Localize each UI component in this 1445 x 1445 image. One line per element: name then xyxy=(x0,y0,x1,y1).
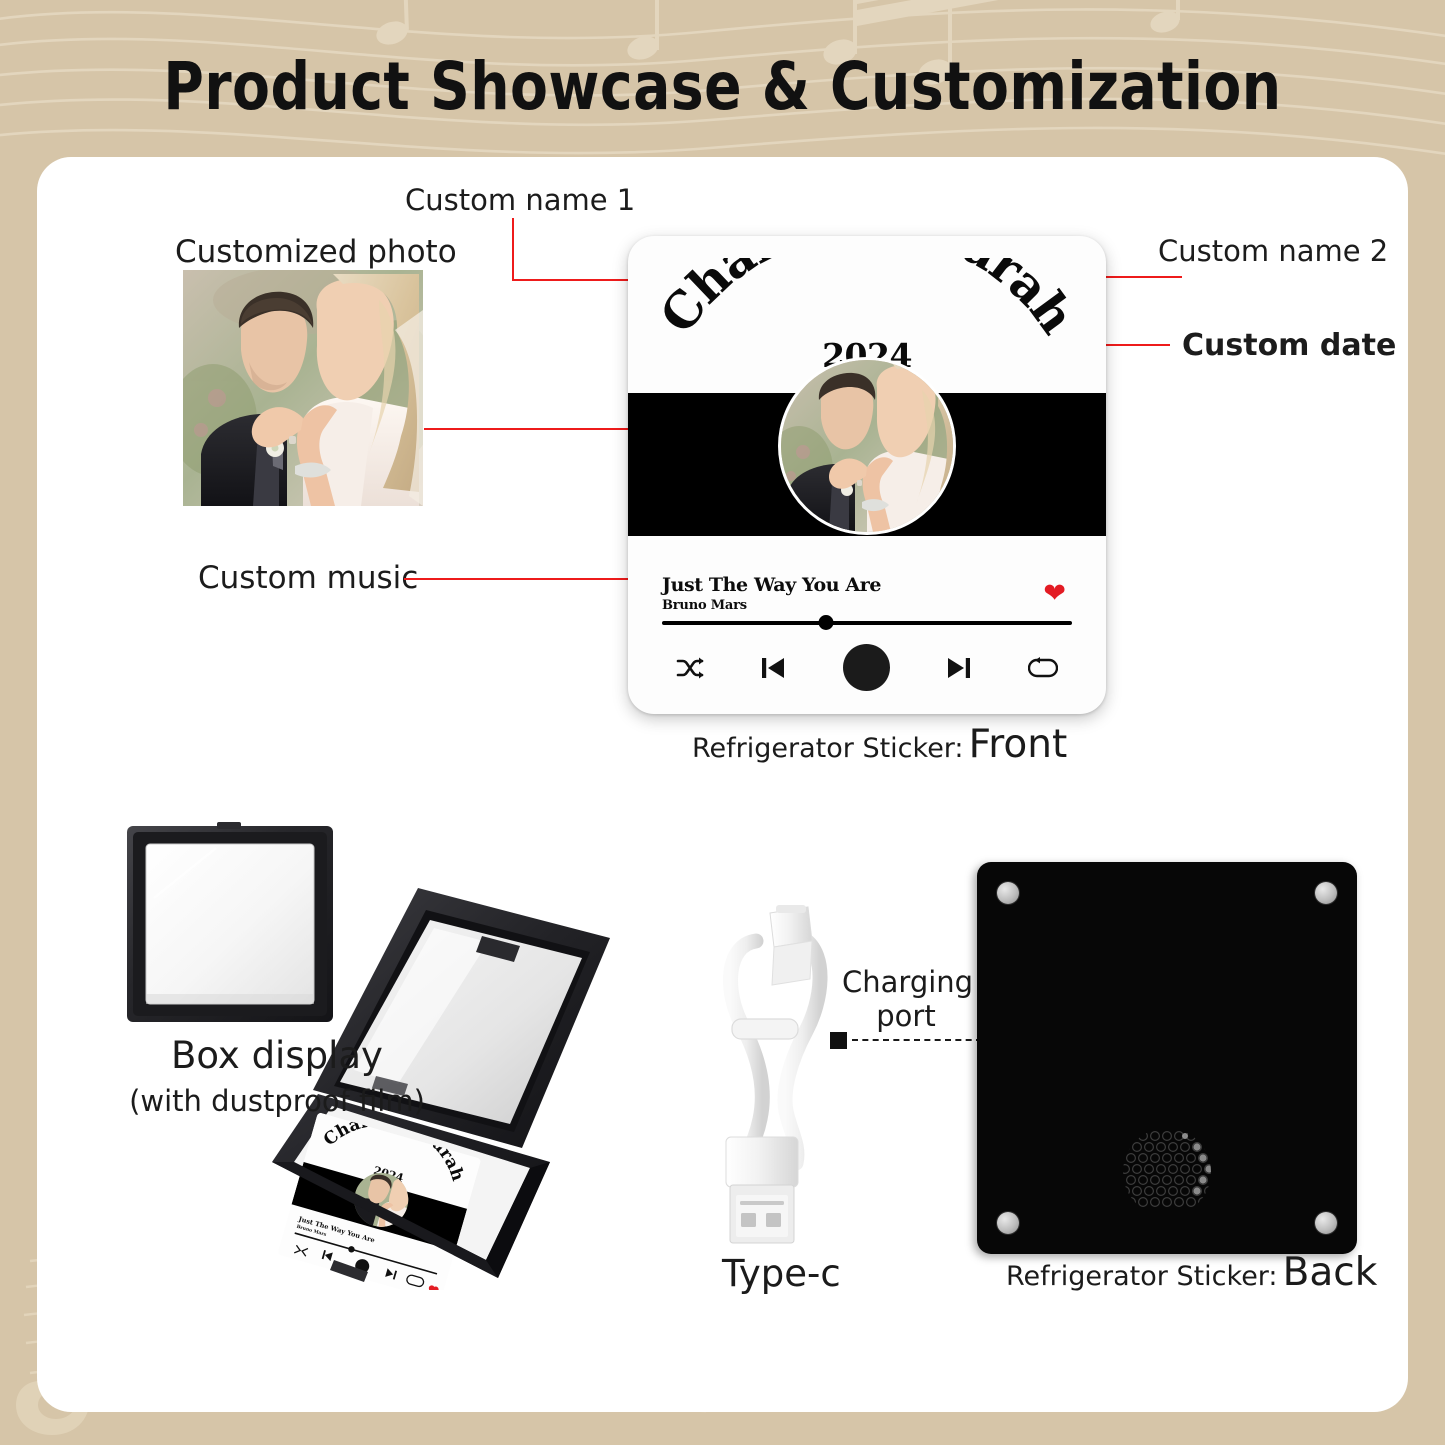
refrigerator-sticker-front[interactable]: Charles & Sarah 2024 xyxy=(628,236,1106,714)
showcase-stage: Product Showcase & Customization Custom … xyxy=(0,0,1445,1445)
screw-bottom-right xyxy=(1315,1212,1337,1234)
screw-bottom-left xyxy=(997,1212,1019,1234)
label-custom-date: Custom date xyxy=(1182,328,1396,363)
player-controls xyxy=(662,644,1072,691)
caption-back: Refrigerator Sticker: Back xyxy=(1006,1250,1377,1295)
shuffle-icon[interactable] xyxy=(676,657,704,679)
label-box-display-sub: (with dustproof film) xyxy=(106,1084,448,1118)
label-custom-name-1: Custom name 1 xyxy=(405,183,635,217)
previous-icon[interactable] xyxy=(760,655,786,681)
label-charging-port: Charging port xyxy=(842,966,970,1033)
speaker-grille-icon xyxy=(1119,1124,1215,1220)
screw-top-left xyxy=(997,882,1019,904)
label-custom-name-2: Custom name 2 xyxy=(1158,234,1388,268)
leader-line-name1-vertical xyxy=(512,218,514,280)
screw-top-right xyxy=(1315,882,1337,904)
progress-bar[interactable] xyxy=(662,621,1072,625)
customized-photo-sample xyxy=(183,270,423,506)
caption-back-value: Back xyxy=(1283,1250,1378,1295)
repeat-icon[interactable] xyxy=(1028,657,1058,679)
refrigerator-sticker-back[interactable] xyxy=(977,862,1357,1254)
progress-knob[interactable] xyxy=(819,615,834,630)
label-custom-music: Custom music xyxy=(198,560,418,596)
caption-back-prefix: Refrigerator Sticker: xyxy=(1006,1261,1278,1292)
next-icon[interactable] xyxy=(946,655,972,681)
charging-port-marker xyxy=(830,1032,847,1049)
heart-icon[interactable]: ❤ xyxy=(1043,580,1066,607)
caption-front: Refrigerator Sticker: Front xyxy=(692,722,1067,767)
music-player: Just The Way You Are Bruno Mars ❤ xyxy=(662,576,1072,691)
sticker-circular-photo xyxy=(781,360,953,532)
charging-port-leader-line xyxy=(852,1039,982,1041)
svg-text:Charles & Sarah: Charles & Sarah xyxy=(648,258,1085,344)
label-type-c: Type-c xyxy=(722,1252,841,1295)
charging-port-line1: Charging xyxy=(842,965,973,999)
charging-port-line2: port xyxy=(876,999,935,1033)
type-c-cable xyxy=(716,905,856,1245)
song-artist: Bruno Mars xyxy=(662,598,1072,613)
caption-front-prefix: Refrigerator Sticker: xyxy=(692,733,964,764)
play-button[interactable] xyxy=(843,644,890,691)
caption-front-value: Front xyxy=(969,722,1068,767)
label-customized-photo: Customized photo xyxy=(175,234,457,270)
page-title: Product Showcase & Customization xyxy=(51,48,1395,125)
song-title: Just The Way You Are xyxy=(662,576,1072,596)
label-box-display: Box display xyxy=(132,1034,422,1077)
